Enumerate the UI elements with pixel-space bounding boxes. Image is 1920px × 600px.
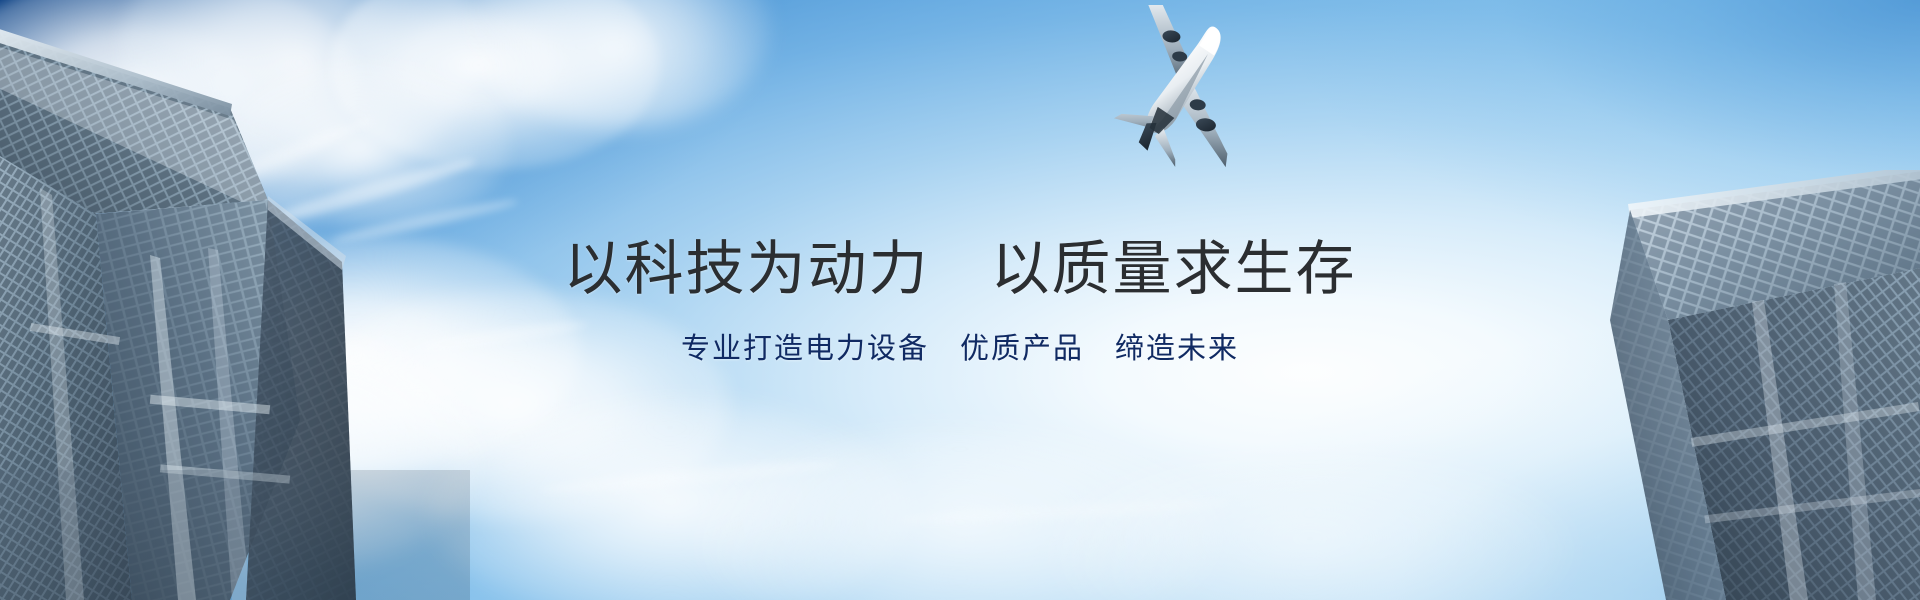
hero-banner: 以科技为动力 以质量求生存 专业打造电力设备 优质产品 缔造未来 [0,0,1920,600]
airplane-icon [1085,5,1280,170]
office-tower-right-icon [1490,170,1920,600]
office-tower-left-icon [0,0,470,600]
